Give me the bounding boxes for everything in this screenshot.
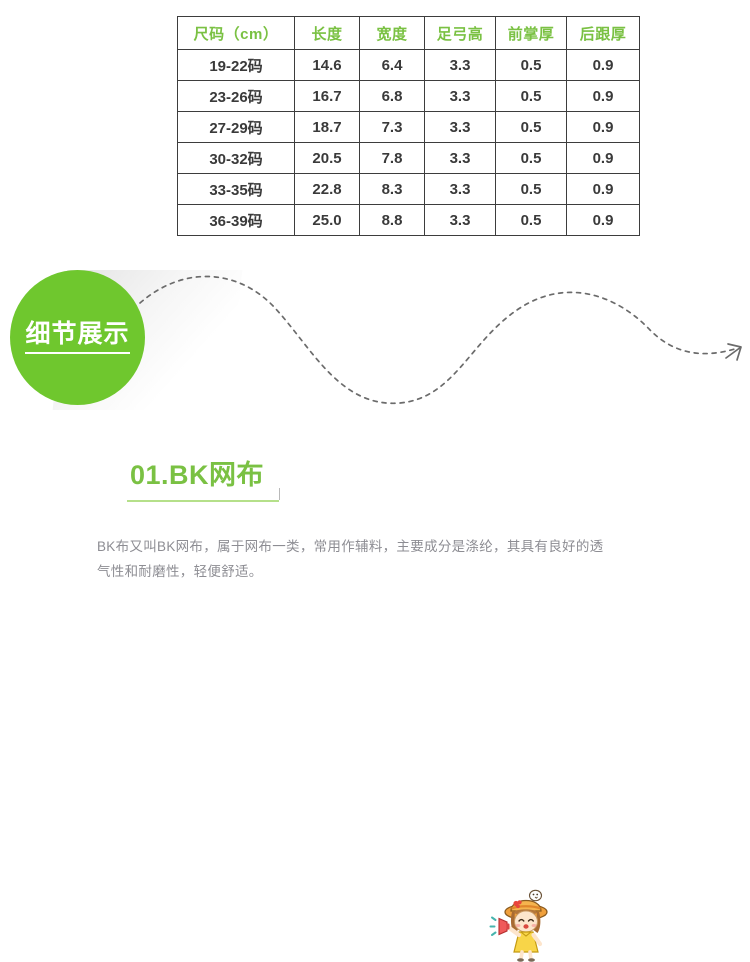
cell-width: 6.8 (360, 81, 425, 112)
cell-heel: 0.9 (567, 112, 640, 143)
cell-arch: 3.3 (425, 143, 496, 174)
column-header-length: 长度 (295, 17, 360, 50)
detail-showcase-banner: 细节展示 (0, 248, 750, 428)
cell-heel: 0.9 (567, 205, 640, 236)
table-row: 19-22码 14.6 6.4 3.3 0.5 0.9 (178, 50, 640, 81)
material-paragraph: BK布又叫BK网布，属于网布一类，常用作辅料，主要成分是涤纶，其具有良好的透气性… (97, 534, 617, 584)
cell-size: 23-26码 (178, 81, 295, 112)
heading-end-tick (279, 488, 280, 500)
cell-heel: 0.9 (567, 174, 640, 205)
material-heading: 01.BK网布 (130, 460, 264, 490)
table-row: 30-32码 20.5 7.8 3.3 0.5 0.9 (178, 143, 640, 174)
material-description-block: 01.BK网布 BK布又叫BK网布，属于网布一类，常用作辅料，主要成分是涤纶，其… (0, 448, 750, 578)
table-row: 27-29码 18.7 7.3 3.3 0.5 0.9 (178, 112, 640, 143)
heading-underline (127, 500, 279, 502)
cell-length: 18.7 (295, 112, 360, 143)
cell-size: 33-35码 (178, 174, 295, 205)
detail-showcase-label: 细节展示 (25, 322, 129, 354)
size-table-body: 19-22码 14.6 6.4 3.3 0.5 0.9 23-26码 16.7 … (178, 50, 640, 236)
cell-forefoot: 0.5 (496, 112, 567, 143)
cell-width: 8.8 (360, 205, 425, 236)
cell-arch: 3.3 (425, 174, 496, 205)
cell-width: 7.8 (360, 143, 425, 174)
column-header-width: 宽度 (360, 17, 425, 50)
cell-heel: 0.9 (567, 50, 640, 81)
cell-length: 16.7 (295, 81, 360, 112)
cell-size: 36-39码 (178, 205, 295, 236)
cell-arch: 3.3 (425, 50, 496, 81)
cell-forefoot: 0.5 (496, 50, 567, 81)
column-header-arch: 足弓高 (425, 17, 496, 50)
cell-heel: 0.9 (567, 143, 640, 174)
column-header-heel: 后跟厚 (567, 17, 640, 50)
cell-forefoot: 0.5 (496, 81, 567, 112)
cell-size: 27-29码 (178, 112, 295, 143)
cell-forefoot: 0.5 (496, 174, 567, 205)
column-header-size: 尺码（cm） (178, 17, 295, 50)
table-row: 36-39码 25.0 8.8 3.3 0.5 0.9 (178, 205, 640, 236)
size-table: 尺码（cm） 长度 宽度 足弓高 前掌厚 后跟厚 19-22码 14.6 6.4… (177, 16, 640, 236)
cell-heel: 0.9 (567, 81, 640, 112)
cell-width: 7.3 (360, 112, 425, 143)
detail-showcase-badge: 细节展示 (10, 270, 145, 405)
cell-forefoot: 0.5 (496, 205, 567, 236)
cell-size: 19-22码 (178, 50, 295, 81)
cell-length: 25.0 (295, 205, 360, 236)
cell-width: 8.3 (360, 174, 425, 205)
cell-arch: 3.3 (425, 81, 496, 112)
cell-forefoot: 0.5 (496, 143, 567, 174)
girl-with-megaphone-icon (488, 886, 566, 962)
cell-length: 20.5 (295, 143, 360, 174)
material-heading-wrap: 01.BK网布 (130, 462, 264, 489)
table-header-row: 尺码（cm） 长度 宽度 足弓高 前掌厚 后跟厚 (178, 17, 640, 50)
table-row: 23-26码 16.7 6.8 3.3 0.5 0.9 (178, 81, 640, 112)
size-table-header: 尺码（cm） 长度 宽度 足弓高 前掌厚 后跟厚 (178, 17, 640, 50)
cell-size: 30-32码 (178, 143, 295, 174)
table-row: 33-35码 22.8 8.3 3.3 0.5 0.9 (178, 174, 640, 205)
cell-length: 22.8 (295, 174, 360, 205)
cell-arch: 3.3 (425, 205, 496, 236)
cell-width: 6.4 (360, 50, 425, 81)
cell-length: 14.6 (295, 50, 360, 81)
cell-arch: 3.3 (425, 112, 496, 143)
column-header-forefoot: 前掌厚 (496, 17, 567, 50)
size-chart: 尺码（cm） 长度 宽度 足弓高 前掌厚 后跟厚 19-22码 14.6 6.4… (177, 16, 633, 236)
